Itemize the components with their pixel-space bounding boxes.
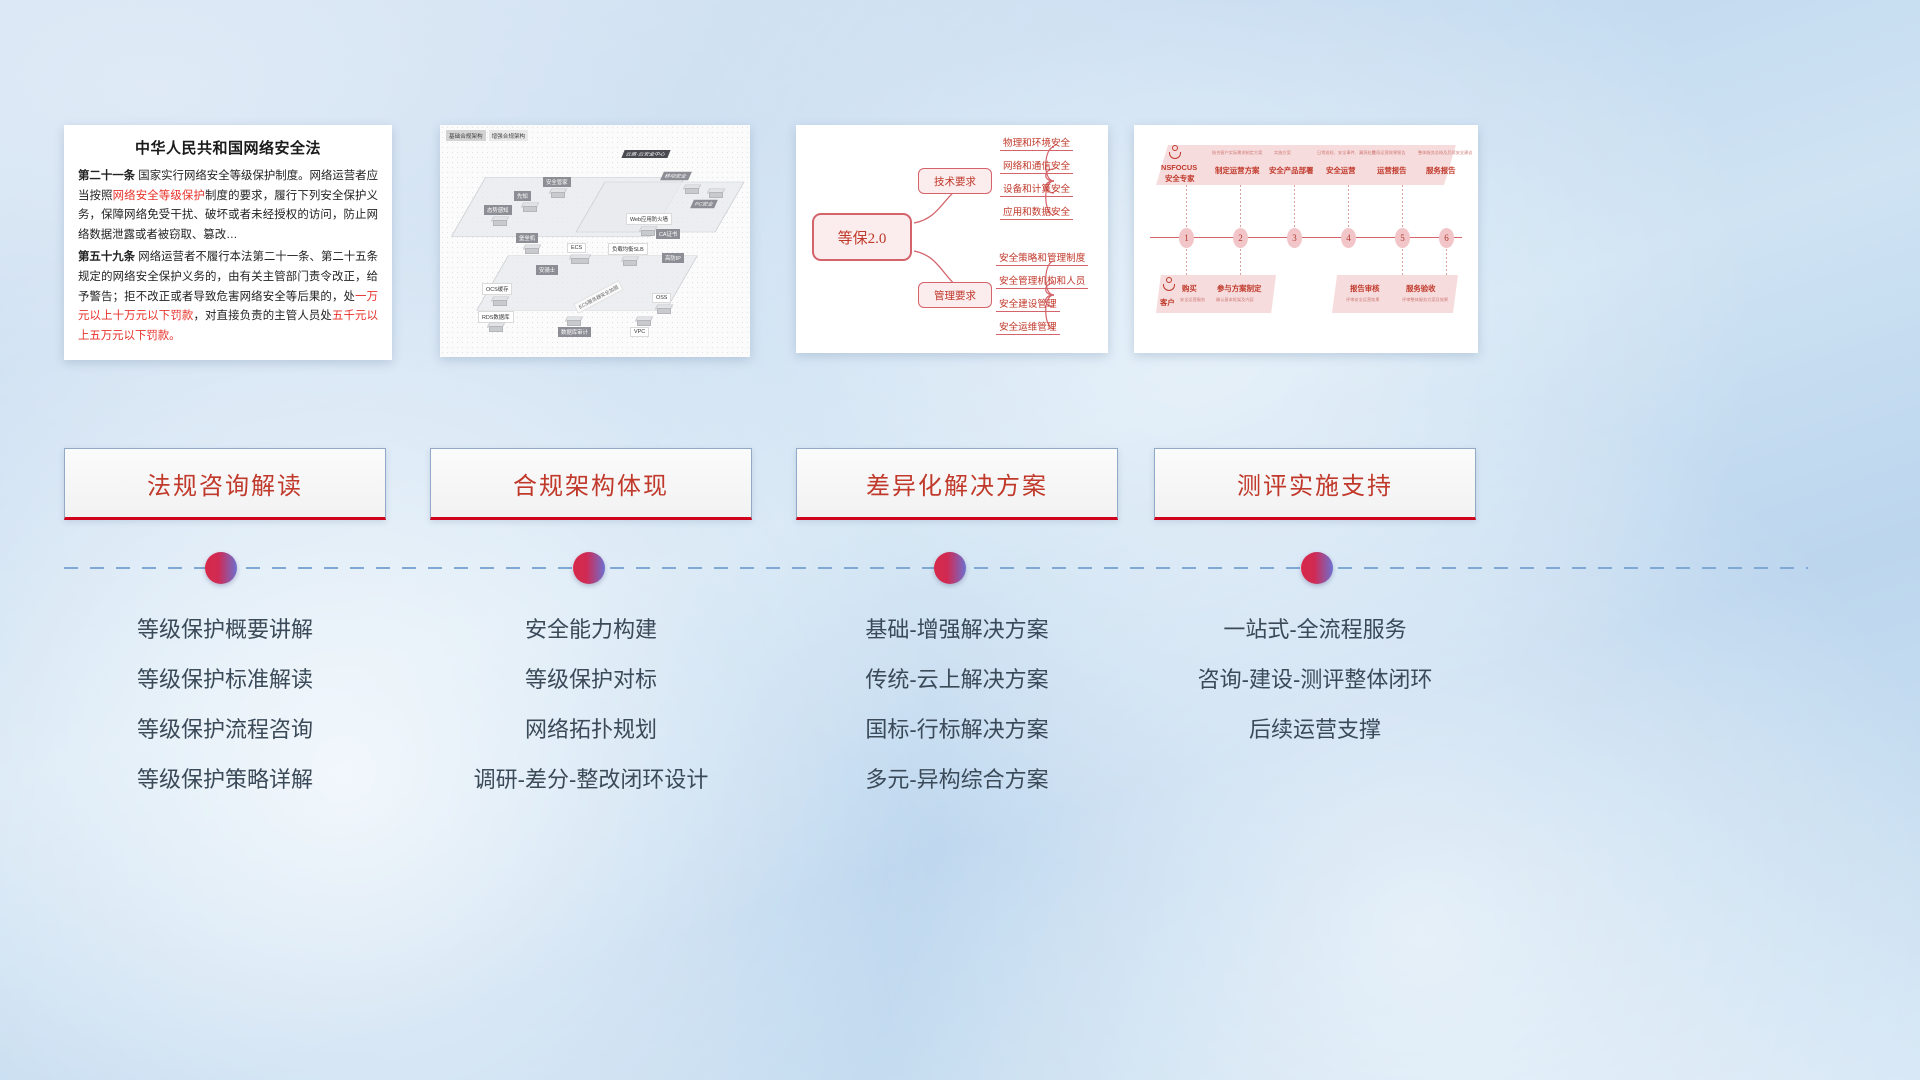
node-label-oss: OSS: [652, 293, 671, 303]
cube-oss: [656, 303, 672, 315]
list-item: 等级保护流程咨询: [64, 705, 386, 755]
top-sub-2: 日常巡检、安全事件、漏洞处置: [1317, 150, 1376, 156]
header-label-1: 合规架构体现: [513, 466, 669, 501]
step-6: 6: [1439, 228, 1454, 248]
node-label-ecs: ECS: [567, 243, 586, 253]
connector-8: [1402, 249, 1403, 279]
customer-label: 客户: [1160, 297, 1175, 308]
node-label-waf: Web应用防火墙: [626, 213, 672, 225]
node-label-mobile-security: 移动安全: [660, 172, 691, 181]
top-sub-3: 阶段运营效果报告: [1372, 150, 1406, 156]
top-title-3: 运营报告: [1377, 165, 1407, 176]
bottom-sub-2: 评审安全运营效果: [1346, 297, 1380, 303]
tab-enhanced-architecture[interactable]: 增强合规架构: [489, 130, 529, 141]
mindmap-branch-technical: 技术要求: [918, 168, 992, 194]
law-title: 中华人民共和国网络安全法: [78, 137, 378, 158]
article-59-body-2: ，对直接负责的主管人员处: [193, 310, 332, 322]
detail-list-2: 基础-增强解决方案 传统-云上解决方案 国标-行标解决方案 多元-异构综合方案: [796, 605, 1118, 805]
connector-9: [1446, 249, 1447, 279]
section-headers-row: 法规咨询解读 合规架构体现 差异化解决方案 测评实施支持: [0, 448, 1920, 520]
node-label-anqishi: 安骑士: [536, 265, 558, 275]
card-dengbao-mindmap[interactable]: 等保2.0 技术要求 管理要求 物理和环境安全 网络和通信安全 设备和计算安全 …: [796, 125, 1108, 353]
cube-pc-security: [708, 187, 724, 199]
expert-title: NSFOCUS: [1161, 163, 1197, 172]
connector-6: [1186, 249, 1187, 279]
node-label-cloud-security-center: 云盾·云安全中心: [621, 150, 670, 158]
article-21-label: 第二十一条: [78, 170, 135, 182]
top-sub-1: 实施方案: [1274, 150, 1291, 156]
connector-5: [1402, 185, 1403, 233]
header-box-evaluation-support[interactable]: 测评实施支持: [1154, 448, 1476, 520]
article-59-label: 第五十九条: [78, 251, 135, 263]
list-item: 一站式-全流程服务: [1154, 605, 1476, 655]
timeline-axis: [1150, 237, 1462, 238]
detail-list-0: 等级保护概要讲解 等级保护标准解读 等级保护流程咨询 等级保护策略详解: [64, 605, 386, 805]
cube-db-audit: [566, 315, 582, 327]
node-label-anti-ddos-ip: 高防IP: [662, 253, 684, 263]
cube-bastion-host: [524, 243, 540, 255]
step-5: 5: [1395, 228, 1410, 248]
mindmap-leaf-mgmt-0: 安全策略和管理制度: [996, 250, 1088, 266]
header-box-differentiated-solution[interactable]: 差异化解决方案: [796, 448, 1118, 520]
bottom-sub-1: 确认基本框架及内容: [1216, 297, 1254, 303]
list-item: 网络拓扑规划: [430, 705, 752, 755]
header-box-compliance-architecture[interactable]: 合规架构体现: [430, 448, 752, 520]
node-label-slb: 负载均衡SLB: [608, 243, 648, 255]
node-label-db-audit: 数据库审计: [558, 327, 591, 337]
cube-ecs: [570, 253, 590, 265]
card-compliance-architecture[interactable]: 基础合规架构 增强合规架构 云盾·云安全中心 安全管家 先知 态势感知 堡垒机: [440, 125, 750, 357]
mindmap-leaf-tech-1: 网络和通信安全: [1000, 158, 1073, 174]
connector-7: [1240, 249, 1241, 279]
step-1: 1: [1179, 228, 1194, 248]
customer-person-icon: [1162, 277, 1176, 293]
customer-band-right: [1332, 275, 1458, 313]
slide-canvas: 中华人民共和国网络安全法 第二十一条 国家实行网络安全等级保护制度。网络运营者应…: [0, 0, 1920, 1080]
node-label-xianzhi: 先知: [514, 191, 531, 201]
node-label-ca-certificate: CA证书: [656, 229, 680, 239]
step-2: 2: [1233, 228, 1248, 248]
cube-rds: [488, 321, 504, 333]
connector-3: [1294, 185, 1295, 233]
mindmap-leaf-mgmt-2: 安全建设管理: [996, 296, 1060, 312]
bottom-title-2: 报告审核: [1350, 283, 1380, 294]
cube-vpc: [636, 315, 652, 327]
list-item: 等级保护概要讲解: [64, 605, 386, 655]
timeline-dot-0[interactable]: [205, 552, 237, 584]
node-label-situational-awareness: 态势感知: [484, 205, 512, 215]
nsfocus-timeline: NSFOCUS 安全专家 结合客户实际需求制定方案 制定运营方案 实施方案 安全…: [1134, 125, 1478, 353]
timeline-dot-3[interactable]: [1301, 552, 1333, 584]
cube-mobile-security: [684, 183, 700, 195]
top-title-2: 安全运营: [1326, 165, 1356, 176]
node-label-pc-security: PC安全: [690, 200, 718, 209]
mindmap-leaf-mgmt-1: 安全管理机构和人员: [996, 273, 1088, 289]
bottom-title-3: 服务验收: [1406, 283, 1436, 294]
cube-xianzhi: [522, 201, 538, 213]
list-item: 基础-增强解决方案: [796, 605, 1118, 655]
architecture-diagram: 基础合规架构 增强合规架构 云盾·云安全中心 安全管家 先知 态势感知 堡垒机: [440, 125, 750, 357]
list-item: 多元-异构综合方案: [796, 755, 1118, 805]
step-3: 3: [1287, 228, 1302, 248]
node-label-vpc: VPC: [630, 327, 649, 337]
top-sub-0: 结合客户实际需求制定方案: [1212, 150, 1262, 156]
law-article-59: 第五十九条 网络运营者不履行本法第二十一条、第二十五条规定的网络安全保护义务的，…: [78, 248, 378, 346]
connector-2: [1240, 185, 1241, 233]
list-item: 等级保护对标: [430, 655, 752, 705]
header-label-2: 差异化解决方案: [866, 466, 1048, 501]
cube-security-butler: [550, 187, 566, 199]
cube-slb: [622, 255, 638, 267]
timeline-dot-1[interactable]: [573, 552, 605, 584]
list-item: 咨询-建设-测评整体闭环: [1154, 655, 1476, 705]
bottom-title-0: 购买: [1182, 283, 1197, 294]
header-box-regulation-consulting[interactable]: 法规咨询解读: [64, 448, 386, 520]
header-label-0: 法规咨询解读: [147, 466, 303, 501]
article-21-highlight: 网络安全等级保护: [113, 190, 205, 202]
mindmap-leaf-tech-0: 物理和环境安全: [1000, 135, 1073, 151]
mindmap-root: 等保2.0: [812, 213, 912, 261]
law-text-block: 中华人民共和国网络安全法 第二十一条 国家实行网络安全等级保护制度。网络运营者应…: [64, 125, 392, 357]
tab-basic-architecture[interactable]: 基础合规架构: [446, 130, 486, 141]
cube-ocs-cache: [492, 295, 508, 307]
cube-waf: [640, 225, 656, 237]
list-item: 国标-行标解决方案: [796, 705, 1118, 755]
connector-4: [1348, 185, 1349, 233]
mindmap: 等保2.0 技术要求 管理要求 物理和环境安全 网络和通信安全 设备和计算安全 …: [796, 125, 1108, 353]
law-article-21: 第二十一条 国家实行网络安全等级保护制度。网络运营者应当按照网络安全等级保护制度…: [78, 167, 378, 245]
top-title-4: 服务报告: [1426, 165, 1456, 176]
card-nsfocus-service-timeline[interactable]: NSFOCUS 安全专家 结合客户实际需求制定方案 制定运营方案 实施方案 安全…: [1134, 125, 1478, 353]
connector-1: [1186, 185, 1187, 233]
list-item: 调研-差分-整改闭环设计: [430, 755, 752, 805]
cube-situational-awareness: [492, 215, 508, 227]
list-item: 传统-云上解决方案: [796, 655, 1118, 705]
node-label-security-butler: 安全管家: [543, 177, 571, 187]
architecture-tabs: 基础合规架构 增强合规架构: [446, 130, 528, 141]
step-4: 4: [1341, 228, 1356, 248]
list-item: 后续运营支撑: [1154, 705, 1476, 755]
card-network-security-law[interactable]: 中华人民共和国网络安全法 第二十一条 国家实行网络安全等级保护制度。网络运营者应…: [64, 125, 392, 360]
list-item: 等级保护标准解读: [64, 655, 386, 705]
node-label-ocs-cache: OCS缓存: [482, 283, 512, 295]
expert-person-icon: [1168, 145, 1182, 161]
expert-subtitle: 安全专家: [1165, 173, 1195, 184]
mindmap-leaf-mgmt-3: 安全运维管理: [996, 319, 1060, 335]
detail-list-1: 安全能力构建 等级保护对标 网络拓扑规划 调研-差分-整改闭环设计: [430, 605, 752, 805]
mindmap-branch-management: 管理要求: [918, 282, 992, 308]
bottom-title-1: 参与方案制定: [1217, 283, 1261, 294]
header-label-3: 测评实施支持: [1237, 466, 1393, 501]
illustration-cards-row: 中华人民共和国网络安全法 第二十一条 国家实行网络安全等级保护制度。网络运营者应…: [0, 125, 1920, 365]
node-label-bastion-host: 堡垒机: [516, 233, 538, 243]
mindmap-leaf-tech-2: 设备和计算安全: [1000, 181, 1073, 197]
list-item: 安全能力构建: [430, 605, 752, 655]
bottom-sub-0: 安全运营服务: [1180, 297, 1205, 303]
mindmap-leaf-tech-3: 应用和数据安全: [1000, 204, 1073, 220]
bottom-sub-3: 评审整体服务方案及效果: [1402, 297, 1448, 303]
top-title-0: 制定运营方案: [1215, 165, 1259, 176]
top-sub-4: 整体服务总结及后续安全建议: [1418, 150, 1472, 156]
list-item: 等级保护策略详解: [64, 755, 386, 805]
top-title-1: 安全产品部署: [1269, 165, 1313, 176]
timeline-dot-2[interactable]: [934, 552, 966, 584]
detail-list-3: 一站式-全流程服务 咨询-建设-测评整体闭环 后续运营支撑: [1154, 605, 1476, 755]
